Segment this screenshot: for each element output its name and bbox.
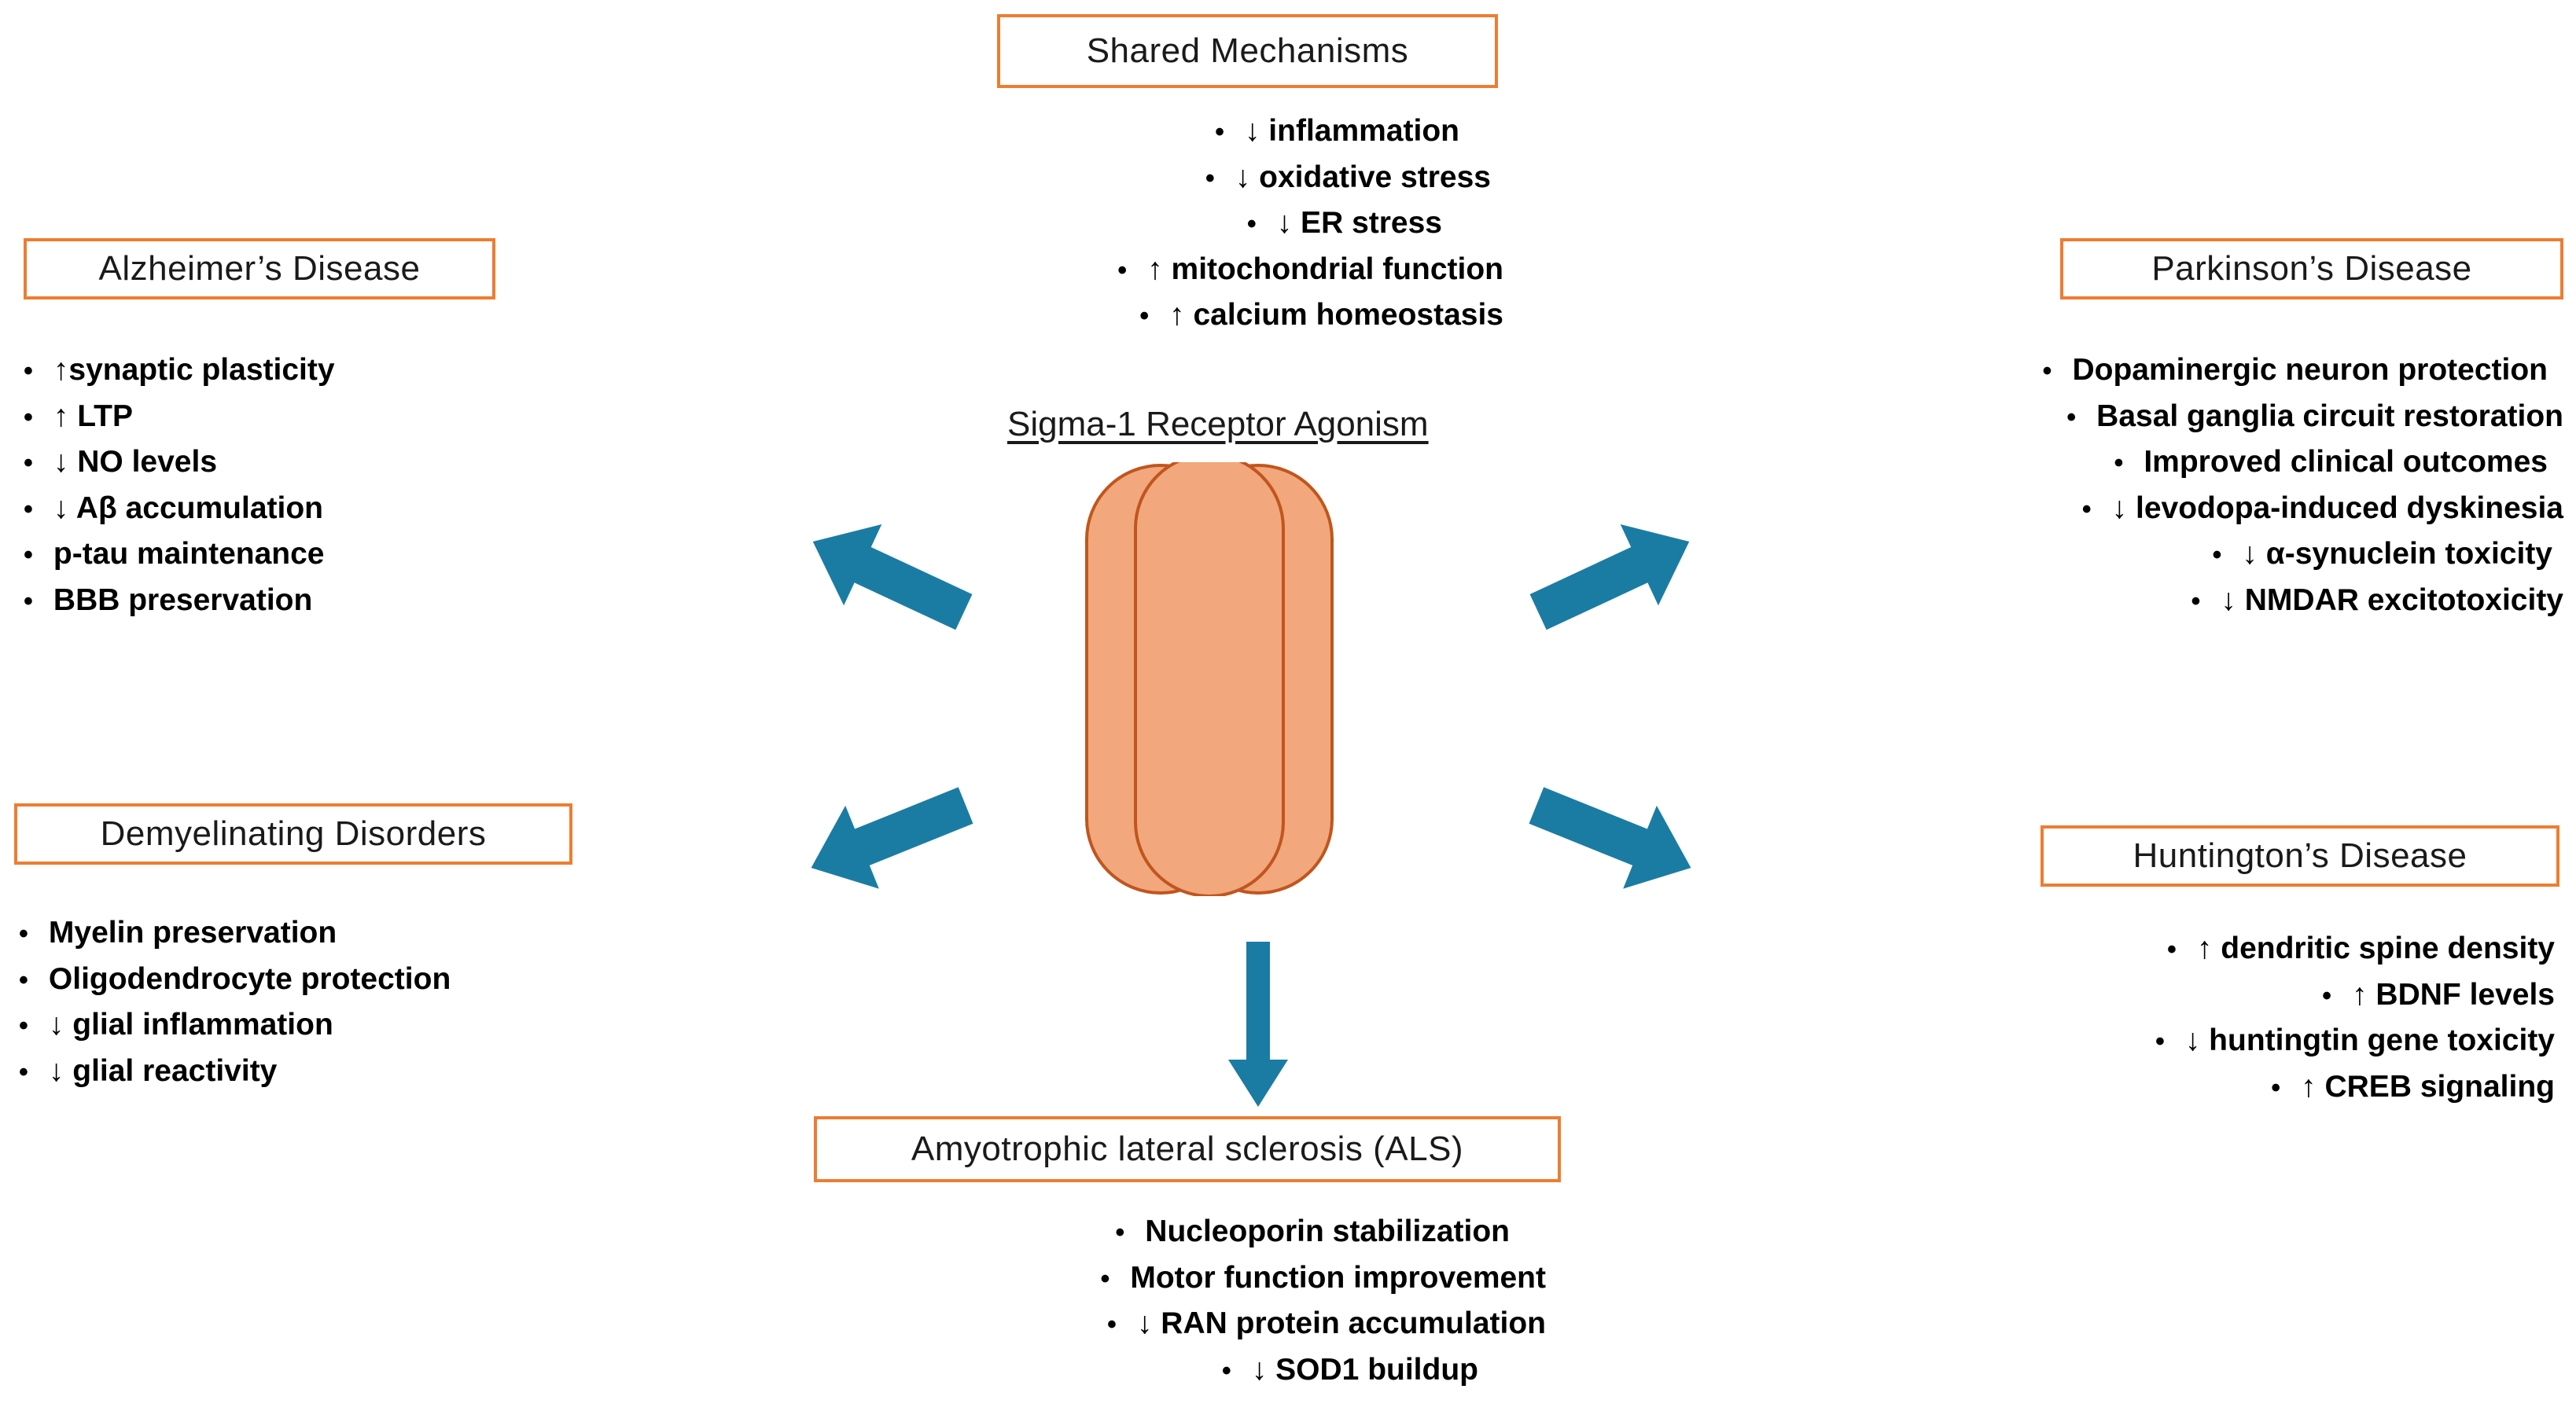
list-item: • ↓ NO levels [24, 439, 335, 486]
bullet-icon: • [24, 358, 33, 384]
bullet-icon: • [2082, 496, 2092, 523]
list-item: • ↓ oxidative stress [936, 155, 1518, 201]
list-item: • ↓ levodopa-induced dyskinesia [1714, 486, 2563, 532]
bullet-icon: • [1139, 303, 1149, 329]
panel-title-huntingtons: Huntington’s Disease [2133, 836, 2467, 876]
bullet-icon: • [1215, 119, 1224, 145]
bullet-icon: • [2043, 358, 2052, 384]
sigma-1-receptor-icon [1084, 462, 1335, 896]
bullet-list-demyelinating: • Myelin preservation • Oligodendrocyte … [19, 910, 451, 1094]
list-item: • ↑ dendritic spine density [1691, 926, 2559, 972]
arrow-to-als-icon [1219, 942, 1297, 1108]
list-item: • ↓ ER stress [936, 200, 1518, 247]
list-item: • Improved clinical outcomes [1714, 439, 2563, 486]
bullet-icon: • [19, 1059, 28, 1086]
list-item: • ↓ NMDAR excitotoxicity [1714, 578, 2563, 624]
list-item: • ↑ BDNF levels [1691, 972, 2559, 1019]
bullet-list-als: • Nucleoporin stabilization • Motor func… [849, 1209, 1557, 1393]
bullet-icon: • [24, 542, 33, 568]
bullet-icon: • [1117, 257, 1127, 284]
list-item: • ↓ glial inflammation [19, 1002, 451, 1049]
list-item: • Nucleoporin stabilization [849, 1209, 1557, 1255]
bullet-icon: • [24, 404, 33, 431]
bullet-icon: • [2213, 542, 2222, 568]
list-item: • BBB preservation [24, 578, 335, 624]
list-item: • Dopaminergic neuron protection [1714, 347, 2563, 394]
bullet-icon: • [2271, 1075, 2280, 1101]
bullet-icon: • [1205, 165, 1215, 192]
list-item: • ↑ CREB signaling [1691, 1064, 2559, 1111]
list-item: • Motor function improvement [849, 1255, 1557, 1302]
panel-title-shared-mechanisms: Shared Mechanisms [1087, 31, 1409, 71]
list-item: • ↑ mitochondrial function [936, 247, 1518, 293]
bullet-icon: • [2167, 936, 2177, 963]
arrow-to-huntingtons-icon [1521, 778, 1709, 896]
bullet-icon: • [24, 588, 33, 615]
bullet-icon: • [19, 967, 28, 994]
bullet-icon: • [2066, 404, 2076, 431]
bullet-icon: • [2155, 1028, 2165, 1055]
panel-title-box-alzheimers: Alzheimer’s Disease [24, 238, 495, 299]
bullet-icon: • [24, 450, 33, 476]
panel-title-box-parkinsons: Parkinson’s Disease [2060, 238, 2563, 299]
bullet-icon: • [1107, 1311, 1117, 1338]
list-item: • Oligodendrocyte protection [19, 957, 451, 1003]
bullet-icon: • [1247, 211, 1257, 237]
list-item: • p-tau maintenance [24, 531, 335, 578]
arrow-to-parkinsons-icon [1521, 517, 1709, 635]
list-item: • ↑synaptic plasticity [24, 347, 335, 394]
arrow-to-alzheimers-icon [793, 517, 981, 635]
bullet-icon: • [1222, 1358, 1231, 1384]
list-item: • Basal ganglia circuit restoration [1714, 394, 2563, 440]
list-item: • ↓ RAN protein accumulation [849, 1301, 1557, 1347]
bullet-list-parkinsons: • Dopaminergic neuron protection • Basal… [1714, 347, 2563, 623]
bullet-icon: • [1115, 1219, 1124, 1246]
panel-title-box-demyelinating: Demyelinating Disorders [14, 803, 572, 865]
bullet-icon: • [2114, 450, 2123, 476]
bullet-icon: • [2191, 588, 2201, 615]
list-item: • ↓ Aβ accumulation [24, 486, 335, 532]
diagram-canvas: Shared Mechanisms • ↓ inflammation • ↓ o… [0, 0, 2576, 1422]
panel-title-demyelinating: Demyelinating Disorders [101, 814, 487, 854]
list-item: • ↓ inflammation [936, 108, 1518, 155]
panel-title-parkinsons: Parkinson’s Disease [2151, 249, 2471, 288]
list-item: • ↓ α-synuclein toxicity [1714, 531, 2563, 578]
bullet-list-huntingtons: • ↑ dendritic spine density • ↑ BDNF lev… [1691, 926, 2559, 1110]
panel-title-als: Amyotrophic lateral sclerosis (ALS) [911, 1130, 1463, 1169]
bullet-icon: • [19, 920, 28, 947]
list-item: • ↑ calcium homeostasis [936, 292, 1518, 339]
arrow-to-demyelinating-icon [793, 778, 981, 896]
panel-title-box-huntingtons: Huntington’s Disease [2041, 825, 2559, 887]
bullet-icon: • [24, 496, 33, 523]
panel-title-box-shared-mechanisms: Shared Mechanisms [997, 14, 1498, 88]
list-item: • ↑ LTP [24, 394, 335, 440]
list-item: • ↓ glial reactivity [19, 1049, 451, 1095]
bullet-list-alzheimers: • ↑synaptic plasticity • ↑ LTP • ↓ NO le… [24, 347, 335, 623]
center-label-sigma1-receptor-agonism: Sigma-1 Receptor Agonism [1007, 405, 1429, 444]
list-item: • ↓ huntingtin gene toxicity [1691, 1018, 2559, 1064]
list-item: • Myelin preservation [19, 910, 451, 957]
bullet-list-shared-mechanisms: • ↓ inflammation • ↓ oxidative stress • … [936, 108, 1518, 339]
panel-title-box-als: Amyotrophic lateral sclerosis (ALS) [814, 1116, 1561, 1182]
bullet-icon: • [1100, 1266, 1110, 1292]
bullet-icon: • [2322, 983, 2331, 1009]
panel-title-alzheimers: Alzheimer’s Disease [99, 249, 421, 288]
bullet-icon: • [19, 1012, 28, 1039]
list-item: • ↓ SOD1 buildup [849, 1347, 1557, 1394]
